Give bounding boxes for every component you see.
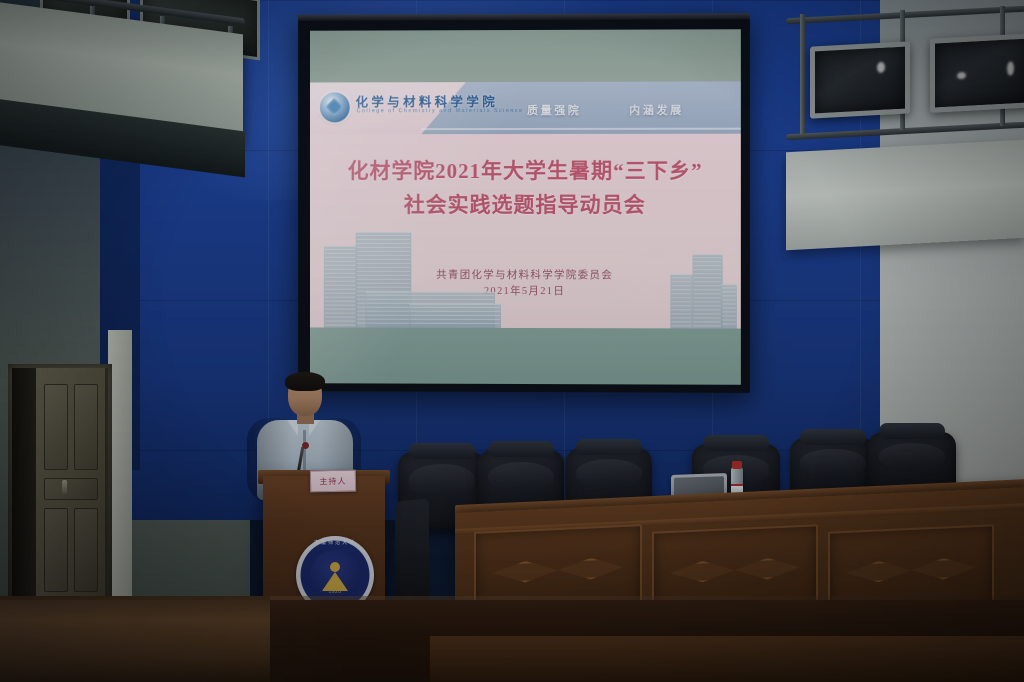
door-panel-middle	[44, 478, 98, 500]
photo-scene: 化学与材料科学学院 College of Chemistry and Mater…	[0, 0, 1024, 682]
chair-headrest-2	[488, 441, 553, 457]
wall-monitor-left	[810, 41, 910, 118]
emblem-text-cn: 安徽师范大学	[296, 539, 374, 546]
water-bottle-cap	[732, 461, 742, 469]
slide-title-line-2: 社会实践选题指导动员会	[310, 188, 741, 222]
podium-nameplate: 主持人	[310, 470, 356, 493]
monitor-glint-1	[877, 62, 885, 73]
screen-surface: 化学与材料科学学院 College of Chemistry and Mater…	[310, 29, 741, 385]
panel-diamond-motif-1	[492, 557, 623, 584]
door-panel-bottom-right	[74, 508, 98, 592]
panel-diamond-motif-3	[846, 557, 976, 584]
projection-screen: 化学与材料科学学院 College of Chemistry and Mater…	[298, 13, 750, 393]
building-graphic-7	[721, 284, 737, 328]
college-name-en: College of Chemistry and Materials Scien…	[357, 108, 524, 114]
door-panel-top-right	[74, 384, 98, 470]
building-graphic-6	[693, 254, 723, 328]
microphone-head	[302, 442, 309, 449]
door-panel-bottom-left	[44, 508, 68, 592]
emblem-inner-disc: 1928	[310, 550, 360, 600]
balcony-right	[786, 140, 1024, 251]
screen-blank-area	[310, 29, 741, 82]
chair-headrest-5	[800, 429, 865, 445]
presentation-slide: 化学与材料科学学院 College of Chemistry and Mater…	[310, 81, 741, 384]
slide-slogan-left: 质量强院	[527, 102, 581, 118]
door-handle-icon	[62, 480, 67, 494]
monitor-glint-2	[957, 72, 966, 79]
wooden-door	[36, 368, 108, 618]
wall-monitor-right	[930, 33, 1024, 112]
chair-headrest-1	[409, 443, 476, 459]
slide-slogan-right: 内涵发展	[629, 102, 684, 118]
monitor-glint-3	[1007, 61, 1014, 75]
slide-title: 化材学院2021年大学生暑期“三下乡” 社会实践选题指导动员会	[310, 154, 741, 222]
slide-header-band: 化学与材料科学学院 College of Chemistry and Mater…	[310, 81, 741, 134]
emblem-year: 1928	[310, 589, 360, 595]
college-crest-icon	[320, 92, 350, 122]
speaker-hair	[285, 372, 325, 391]
building-graphic-4	[409, 304, 501, 328]
screen-top-bar	[298, 13, 750, 21]
door-opening-shadow	[12, 368, 38, 618]
railing-post-r1	[800, 14, 805, 134]
building-graphic-1	[324, 246, 358, 328]
slide-title-line-1: 化材学院2021年大学生暑期“三下乡”	[348, 159, 703, 183]
building-graphic-5	[670, 274, 692, 328]
panel-diamond-motif-2	[670, 557, 800, 584]
chair-headrest-6	[879, 423, 946, 439]
chair-headrest-3	[576, 439, 641, 455]
chair-headrest-4	[703, 435, 770, 451]
emblem-sun-icon	[330, 562, 340, 572]
stage-floor-left	[0, 596, 270, 682]
door-panel-top-left	[44, 384, 68, 470]
stage-floor-right	[430, 636, 1024, 682]
slide-footer-band	[310, 327, 741, 384]
